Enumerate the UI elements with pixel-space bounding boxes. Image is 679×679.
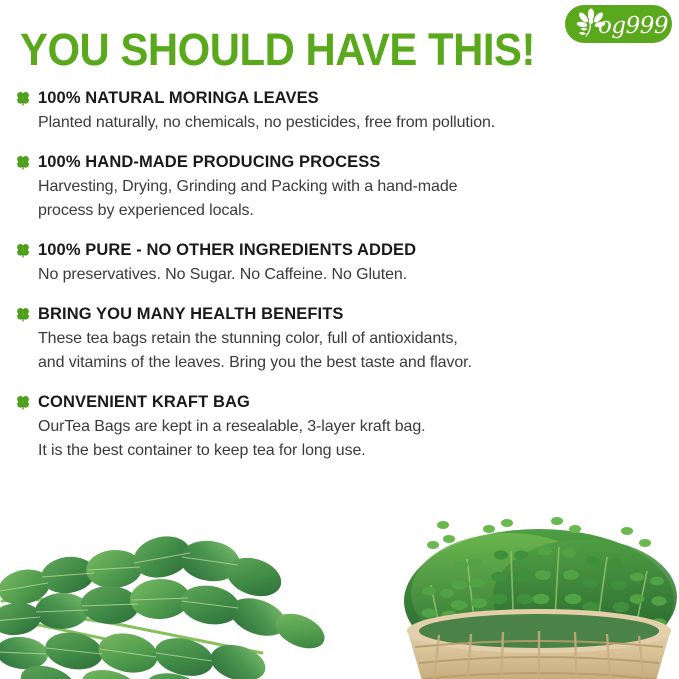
feature-body-line: No preservatives. No Sugar. No Caffeine.… [38, 263, 679, 287]
feature-list: 100% NATURAL MORINGA LEAVES Planted natu… [0, 88, 679, 480]
list-item: 100% NATURAL MORINGA LEAVES Planted natu… [0, 88, 679, 135]
brand-logo: og999 [565, 5, 672, 43]
feature-body-line: Planted naturally, no chemicals, no pest… [38, 111, 679, 135]
feature-body-line: OurTea Bags are kept in a resealable, 3-… [38, 415, 679, 439]
feature-heading: CONVENIENT KRAFT BAG [38, 392, 679, 412]
feature-body-line: These tea bags retain the stunning color… [38, 327, 679, 351]
feature-heading: 100% NATURAL MORINGA LEAVES [38, 88, 679, 108]
feature-body-line: It is the best container to keep tea for… [38, 439, 679, 463]
feature-body-line: and vitamins of the leaves. Bring you th… [38, 351, 679, 375]
feature-heading: 100% HAND-MADE PRODUCING PROCESS [38, 152, 679, 172]
clover-icon [16, 243, 30, 258]
feature-body: Harvesting, Drying, Grinding and Packing… [38, 175, 679, 223]
logo-wordmark: og999 [598, 11, 670, 41]
clover-icon [16, 395, 30, 410]
feature-heading: BRING YOU MANY HEALTH BENEFITS [38, 304, 679, 324]
clover-icon [16, 307, 30, 322]
feature-body: These tea bags retain the stunning color… [38, 327, 679, 375]
list-item: BRING YOU MANY HEALTH BENEFITS These tea… [0, 304, 679, 375]
feature-heading: 100% PURE - NO OTHER INGREDIENTS ADDED [38, 240, 679, 260]
feature-body: OurTea Bags are kept in a resealable, 3-… [38, 415, 679, 463]
product-feature-infographic: og999 YOU SHOULD HAVE THIS! 100% NATURAL… [0, 0, 679, 679]
feature-body: Planted naturally, no chemicals, no pest… [38, 111, 679, 135]
moringa-basket-photo [389, 505, 679, 679]
list-item: 100% HAND-MADE PRODUCING PROCESS Harvest… [0, 152, 679, 223]
feature-body: No preservatives. No Sugar. No Caffeine.… [38, 263, 679, 287]
photo-band [0, 505, 679, 679]
moringa-leaves-photo [0, 513, 342, 679]
list-item: CONVENIENT KRAFT BAG OurTea Bags are kep… [0, 392, 679, 463]
page-title: YOU SHOULD HAVE THIS! [20, 24, 522, 76]
feature-body-line: process by experienced locals. [38, 199, 679, 223]
clover-icon [16, 155, 30, 170]
feature-body-line: Harvesting, Drying, Grinding and Packing… [38, 175, 679, 199]
clover-icon [16, 91, 30, 106]
list-item: 100% PURE - NO OTHER INGREDIENTS ADDED N… [0, 240, 679, 287]
